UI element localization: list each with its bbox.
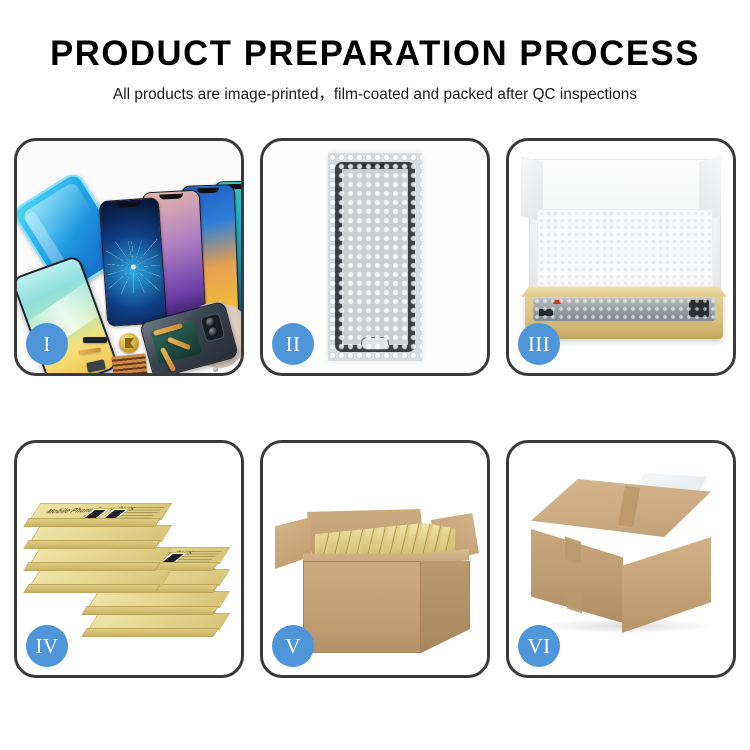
header: PRODUCT PREPARATION PROCESS All products…: [0, 0, 750, 120]
camera-module-icon: [200, 312, 226, 342]
step-badge: V: [272, 625, 314, 667]
panel-stacked-retail-boxes: Mobile Phone Spare Parts: [14, 440, 244, 678]
panel-products-overview: I: [14, 138, 244, 376]
bubble-wrap-sheet: [328, 153, 422, 361]
box-front: [23, 562, 161, 571]
step-badge: I: [26, 323, 68, 365]
retail-box-top-left: Mobile Phone Spare Parts: [35, 503, 167, 526]
retail-box: [93, 613, 225, 636]
phone-notch-icon: [117, 201, 142, 208]
carton-front-panel: [303, 561, 421, 653]
panel-sealed-carton: VI: [506, 440, 736, 678]
screen-connector: [689, 300, 709, 317]
retail-box: [35, 569, 167, 592]
page-subtitle: All products are image-printed，film-coat…: [0, 73, 750, 104]
phone-notch-icon: [159, 193, 183, 199]
label-mark-red: [553, 300, 561, 304]
box-front: [81, 628, 219, 637]
process-panel-grid: I II III: [14, 138, 736, 678]
step-badge: VI: [518, 625, 560, 667]
retail-box: [35, 525, 167, 548]
speaker-part: [119, 333, 139, 353]
box-front: [23, 540, 161, 549]
step-badge: II: [272, 323, 314, 365]
screen-graphic: [106, 239, 162, 295]
screw: [213, 367, 218, 372]
ic-chip-array: [112, 353, 149, 373]
box-front: [23, 584, 161, 593]
foam-padding: [537, 209, 713, 297]
panel-bubble-wrapped-screen: II: [260, 138, 490, 376]
box-front: [81, 606, 219, 615]
box-front: [23, 518, 161, 527]
retail-box: [93, 591, 225, 614]
page-title: PRODUCT PREPARATION PROCESS: [4, 0, 747, 73]
panel-carton-filled: V: [260, 440, 490, 678]
panel-boxed-with-foam: III: [506, 138, 736, 376]
phone-notch-icon: [197, 188, 219, 194]
label-mark-black: [539, 309, 553, 316]
packed-screen: [533, 297, 715, 321]
retail-box: [35, 547, 167, 570]
spare-part-chip: [83, 337, 107, 343]
phone-screen-1: [99, 197, 168, 327]
bubble-wrap-overlay: [328, 153, 422, 361]
step-badge: III: [518, 323, 560, 365]
step-badge: IV: [26, 625, 68, 667]
